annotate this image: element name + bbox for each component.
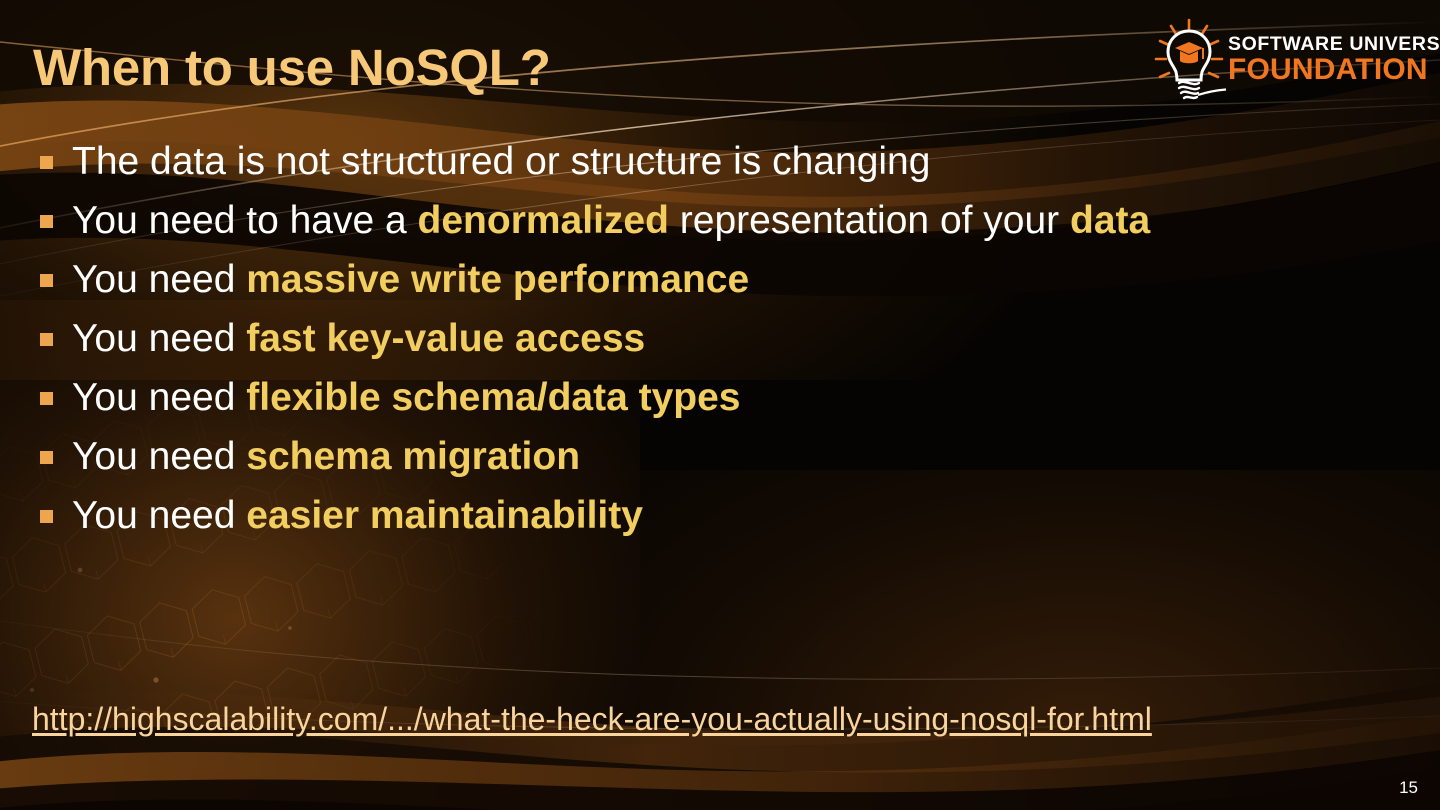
bullet-plain-text: You need to have a	[72, 199, 418, 242]
logo-line-foundation: FOUNDATION	[1228, 55, 1440, 85]
logo-line-software-university: SOFTWARE UNIVERSITY	[1228, 35, 1440, 55]
bullet-item: You need easier maintainability	[33, 496, 1408, 535]
bullet-square-icon	[40, 333, 53, 346]
bullet-highlight-text: data	[1070, 199, 1150, 242]
page-number: 15	[1399, 778, 1418, 798]
bullet-square-icon	[40, 215, 53, 228]
bullet-square-icon	[40, 392, 53, 405]
bullet-highlight-text: denormalized	[418, 199, 669, 242]
bullet-highlight-text: fast key-value access	[246, 317, 645, 360]
bullet-item: You need massive write performance	[33, 260, 1408, 299]
bullet-square-icon	[40, 451, 53, 464]
lightbulb-graduation-cap-icon	[1152, 17, 1226, 103]
slide-title: When to use NoSQL?	[33, 38, 551, 97]
bullet-square-icon	[40, 510, 53, 523]
bullet-item: You need schema migration	[33, 437, 1408, 476]
bullet-item: You need flexible schema/data types	[33, 378, 1408, 417]
slide-body: The data is not structured or structure …	[33, 142, 1408, 555]
bullet-plain-text: You need	[72, 494, 246, 537]
bullet-plain-text: You need	[72, 317, 246, 360]
bullet-plain-text: You need	[72, 376, 246, 419]
bullet-item: You need to have a denormalized represen…	[33, 201, 1408, 240]
bullet-highlight-text: flexible schema/data types	[246, 376, 740, 419]
bullet-list: The data is not structured or structure …	[33, 142, 1408, 535]
bullet-item: The data is not structured or structure …	[33, 142, 1408, 181]
bullet-highlight-text: schema migration	[246, 435, 580, 478]
bullet-plain-text: You need	[72, 435, 246, 478]
bullet-plain-text: The data is not structured or structure …	[72, 140, 930, 183]
bullet-square-icon	[40, 274, 53, 287]
bullet-plain-text: You need	[72, 258, 246, 301]
bullet-highlight-text: massive write performance	[246, 258, 749, 301]
bullet-highlight-text: easier maintainability	[246, 494, 643, 537]
software-university-foundation-logo: SOFTWARE UNIVERSITY FOUNDATION	[1152, 14, 1422, 106]
presentation-slide: SOFTWARE UNIVERSITY FOUNDATION When to u…	[0, 0, 1440, 810]
bullet-plain-text: representation of your	[669, 199, 1070, 242]
bullet-square-icon	[40, 156, 53, 169]
logo-wordmark: SOFTWARE UNIVERSITY FOUNDATION	[1228, 35, 1440, 86]
reference-link[interactable]: http://highscalability.com/.../what-the-…	[32, 700, 1402, 739]
bullet-item: You need fast key-value access	[33, 319, 1408, 358]
